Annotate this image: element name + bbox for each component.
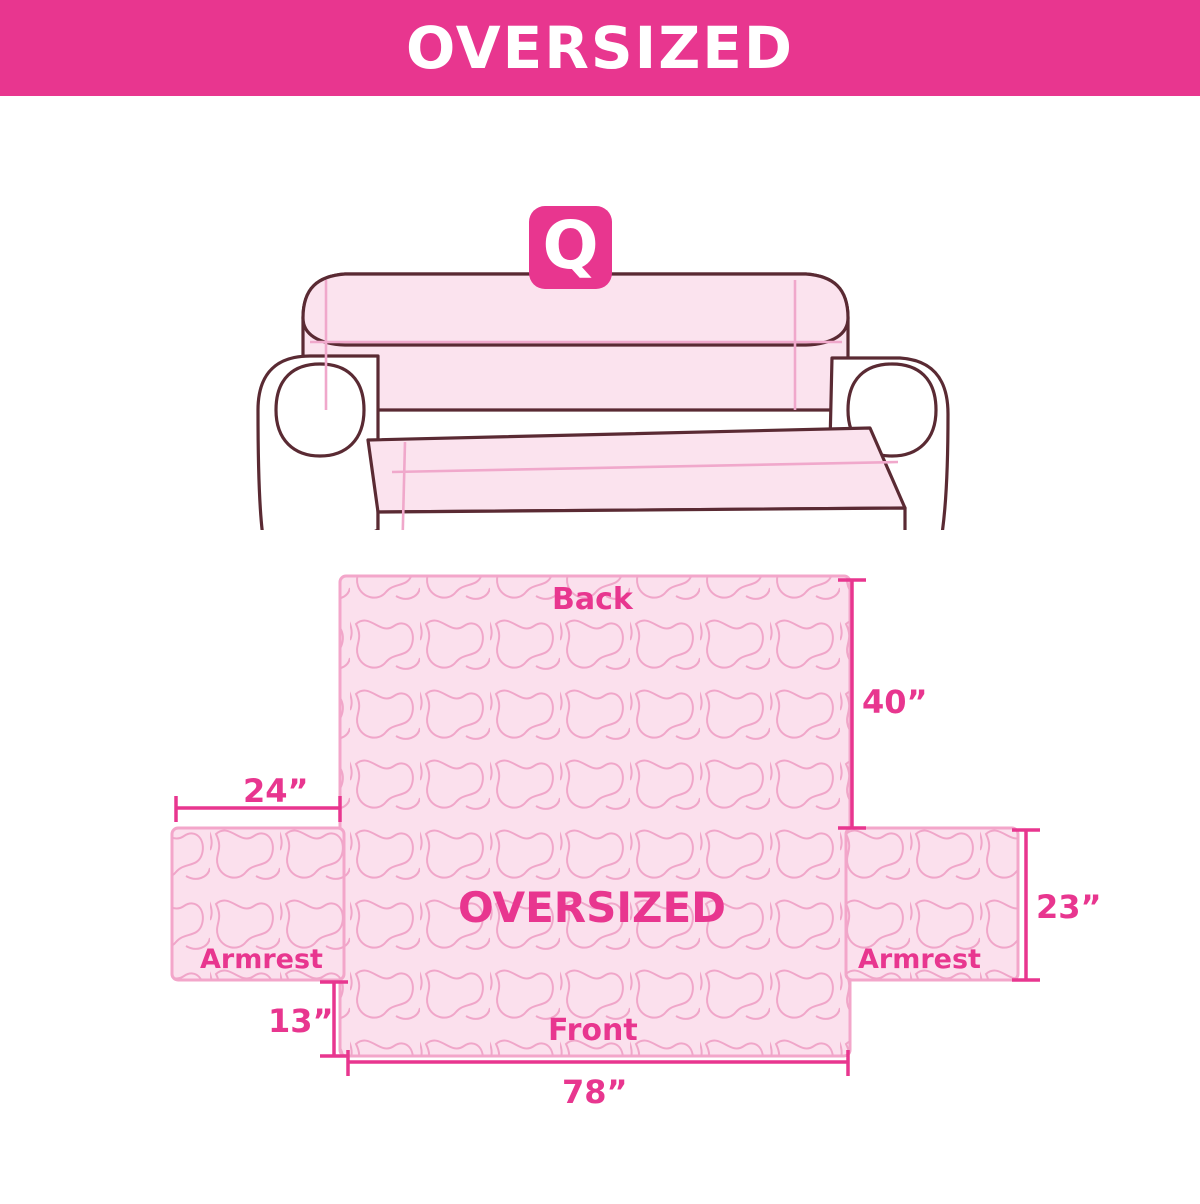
header-banner: OVERSIZED: [0, 0, 1200, 96]
label-center-oversized: OVERSIZED: [458, 883, 726, 932]
flat-pattern-diagram: Back Front Armrest Armrest OVERSIZED 40”…: [0, 540, 1200, 1200]
label-armrest-right: Armrest: [858, 944, 981, 975]
brand-logo-letter: Q: [542, 213, 598, 279]
label-front: Front: [548, 1013, 638, 1048]
sofa-drawing: .so { fill: none; stroke: #5a2a33; strok…: [0, 110, 1200, 530]
dimension-total-width: 78”: [562, 1073, 628, 1111]
dimension-armrest-height: 23”: [1036, 888, 1102, 926]
dimension-front-drop: 13”: [268, 1002, 334, 1040]
dimension-armrest-width: 24”: [243, 772, 309, 810]
dimension-back-height: 40”: [862, 683, 928, 721]
brand-logo-badge: Q: [529, 206, 612, 289]
label-armrest-left: Armrest: [200, 944, 323, 975]
label-back: Back: [552, 582, 633, 617]
pattern-center-texture: [340, 576, 850, 1056]
sofa-illustration: .so { fill: none; stroke: #5a2a33; strok…: [0, 110, 1200, 530]
page-title: OVERSIZED: [406, 14, 794, 82]
